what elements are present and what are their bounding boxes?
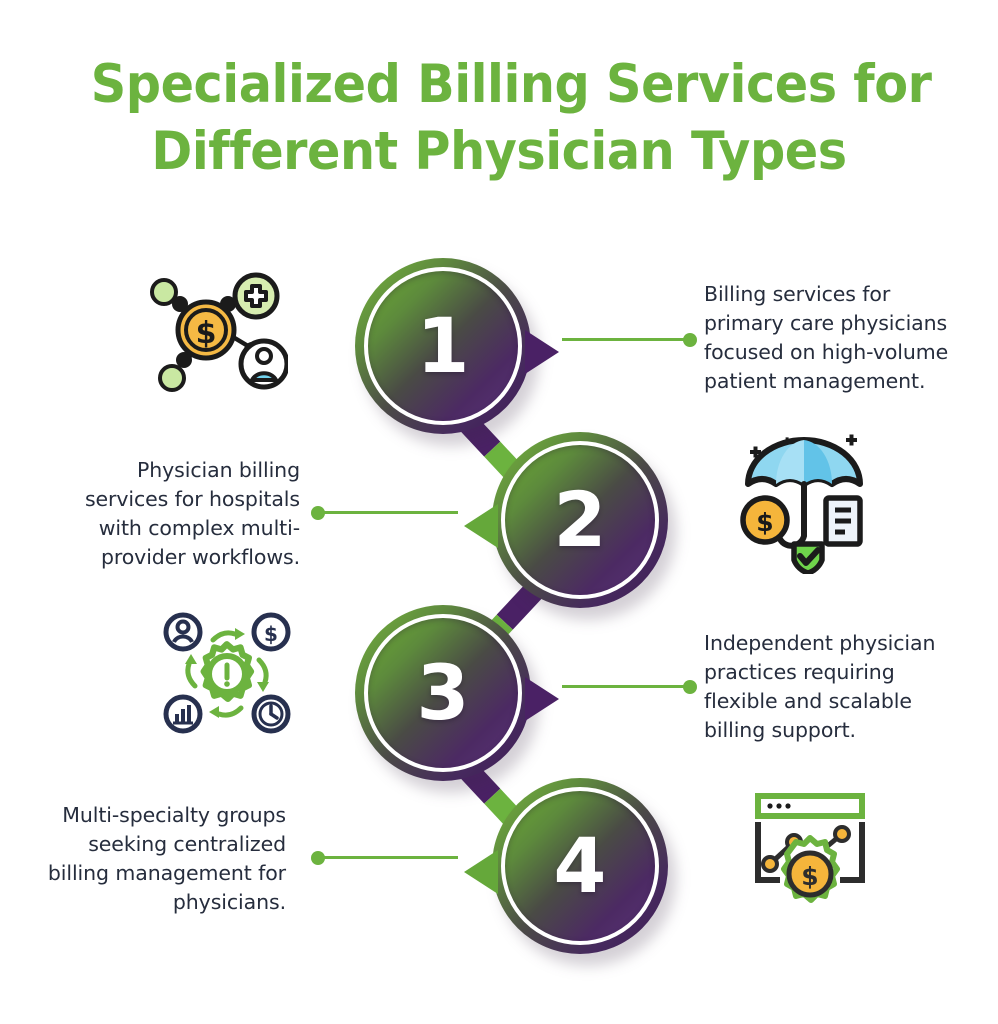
leader-dot-icon — [683, 680, 697, 694]
infographic-canvas: Specialized Billing Services for Differe… — [0, 0, 998, 1024]
node-pointer-icon — [464, 850, 498, 894]
analytics-gear-icon: $ — [748, 792, 872, 908]
step-node-3[interactable]: 3 — [355, 605, 531, 781]
svg-text:$: $ — [196, 316, 217, 351]
leader-line-3 — [562, 685, 690, 688]
step-description-3: Independent physician practices requirin… — [704, 629, 956, 745]
page-title: Specialized Billing Services for Differe… — [91, 52, 908, 186]
leader-line-2 — [318, 511, 458, 514]
leader-line-4 — [318, 856, 458, 859]
node-pointer-icon — [464, 504, 498, 548]
page-title-line-2: Different Physician Types — [91, 119, 908, 186]
svg-text:$: $ — [264, 622, 278, 646]
leader-dot-icon — [311, 506, 325, 520]
step-number-3: 3 — [355, 605, 531, 781]
gear-workflow-icon: $ — [163, 612, 291, 734]
page-title-line-1: Specialized Billing Services for — [91, 52, 908, 119]
step-description-4: Multi-specialty groups seeking centraliz… — [46, 801, 286, 917]
dollar-network-icon: $ — [148, 268, 288, 394]
svg-text:$: $ — [756, 508, 773, 537]
step-number-1: 1 — [355, 258, 531, 434]
step-number-2: 2 — [492, 432, 668, 608]
step-number-4: 4 — [492, 778, 668, 954]
step-node-2[interactable]: 2 — [492, 432, 668, 608]
node-pointer-icon — [525, 330, 559, 374]
leader-line-1 — [562, 338, 690, 341]
node-pointer-icon — [525, 677, 559, 721]
umbrella-protection-icon: $ — [736, 428, 872, 574]
step-description-2: Physician billing services for hospitals… — [60, 456, 300, 572]
leader-dot-icon — [683, 333, 697, 347]
step-node-4[interactable]: 4 — [492, 778, 668, 954]
leader-dot-icon — [311, 851, 325, 865]
step-node-1[interactable]: 1 — [355, 258, 531, 434]
step-description-1: Billing services for primary care physic… — [704, 280, 954, 396]
svg-text:$: $ — [801, 862, 818, 891]
